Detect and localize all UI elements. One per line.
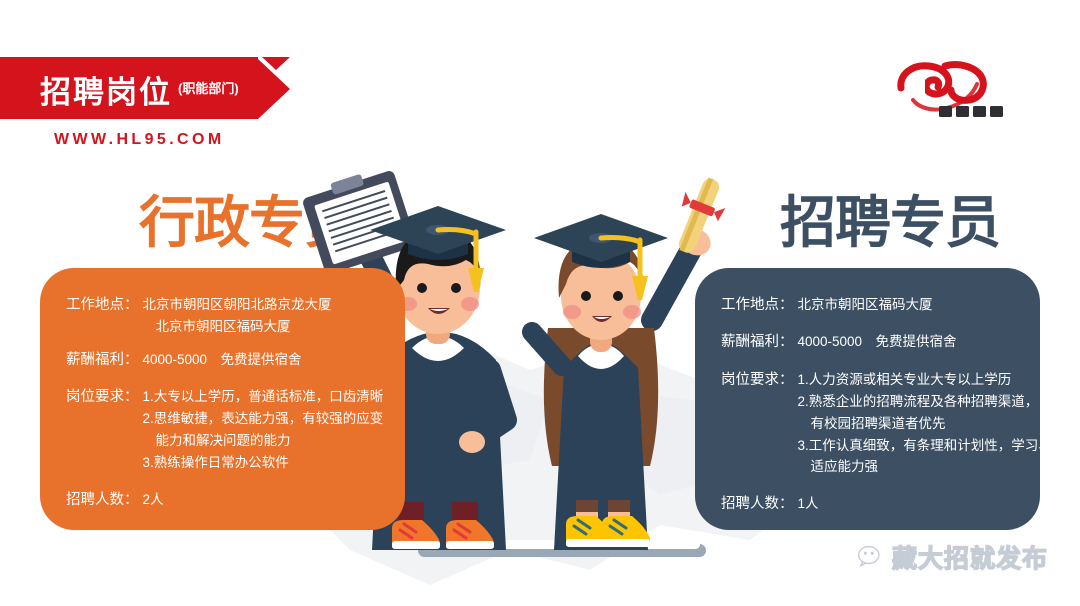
row-line: 北京市朝阳区福码大厦 — [798, 294, 1019, 316]
row-label: 招聘人数： — [721, 493, 798, 515]
logo-mark-95 — [901, 65, 984, 110]
wechat-icon — [857, 544, 884, 571]
row-label: 工作地点： — [721, 294, 798, 316]
recruitment-poster: 招聘岗位 (职能部门) WWW.HL95.COM 行政专员 招聘专员 — [0, 0, 1080, 606]
panel-row: 岗位要求： 1.人力资源或相关专业大专以上学历 2.熟悉企业的招聘流程及各种招聘… — [721, 369, 1018, 478]
row-line: 能力和解决问题的能力 — [143, 430, 384, 452]
panel-row: 招聘人数： 1人 — [721, 493, 1018, 515]
job-panel-right: 工作地点： 北京市朝阳区福码大厦 薪酬福利： 4000-5000 免费提供宿舍 … — [695, 268, 1040, 530]
row-label: 岗位要求： — [66, 386, 143, 473]
company-logo — [893, 58, 1028, 120]
website-url[interactable]: WWW.HL95.COM — [54, 131, 225, 149]
row-body: 1.人力资源或相关专业大专以上学历 2.熟悉企业的招聘流程及各种招聘渠道， 有校… — [798, 369, 1052, 478]
row-line: 1人 — [798, 493, 1019, 515]
panel-row: 工作地点： 北京市朝阳区福码大厦 — [721, 294, 1018, 316]
row-label: 薪酬福利： — [721, 331, 798, 353]
row-line: 2.思维敏捷，表达能力强，有较强的应变 — [143, 408, 384, 430]
row-line: 3.熟练操作日常办公软件 — [143, 452, 384, 474]
panel-row: 工作地点： 北京市朝阳区朝阳北路京龙大厦 北京市朝阳区福码大厦 — [66, 294, 383, 338]
row-line: 2人 — [143, 489, 384, 511]
row-line: 有校园招聘渠道者优先 — [798, 413, 1052, 435]
row-line: 1.大专以上学历，普通话标准，口齿清晰 — [143, 386, 384, 408]
job-panel-left: 工作地点： 北京市朝阳区朝阳北路京龙大厦 北京市朝阳区福码大厦 薪酬福利： 40… — [40, 268, 405, 530]
row-line: 1.人力资源或相关专业大专以上学历 — [798, 369, 1052, 391]
row-body: 1人 — [798, 493, 1019, 515]
row-line: 北京市朝阳区福码大厦 — [143, 316, 384, 338]
row-label: 工作地点： — [66, 294, 143, 338]
panel-row: 岗位要求： 1.大专以上学历，普通话标准，口齿清晰 2.思维敏捷，表达能力强，有… — [66, 386, 383, 473]
row-body: 1.大专以上学历，普通话标准，口齿清晰 2.思维敏捷，表达能力强，有较强的应变 … — [143, 386, 384, 473]
row-label: 招聘人数： — [66, 489, 143, 511]
watermark-text: 藏大招就发布 — [892, 539, 1048, 575]
row-line: 3.工作认真细致，有条理和计划性，学习、 — [798, 435, 1052, 457]
row-body: 北京市朝阳区福码大厦 — [798, 294, 1019, 316]
panel-row: 薪酬福利： 4000-5000 免费提供宿舍 — [66, 349, 383, 371]
row-line: 2.熟悉企业的招聘流程及各种招聘渠道， — [798, 391, 1052, 413]
panel-row: 招聘人数： 2人 — [66, 489, 383, 511]
row-body: 4000-5000 免费提供宿舍 — [798, 331, 1019, 353]
row-line: 北京市朝阳区朝阳北路京龙大厦 — [143, 294, 384, 316]
row-body: 北京市朝阳区朝阳北路京龙大厦 北京市朝阳区福码大厦 — [143, 294, 384, 338]
row-line: 适应能力强 — [798, 456, 1052, 478]
logo-wordmark — [939, 106, 1003, 117]
row-label: 岗位要求： — [721, 369, 798, 478]
row-line: 4000-5000 免费提供宿舍 — [143, 349, 384, 371]
row-body: 2人 — [143, 489, 384, 511]
job-title-right: 招聘专员 — [780, 196, 1000, 252]
panel-row: 薪酬福利： 4000-5000 免费提供宿舍 — [721, 331, 1018, 353]
header-banner-shape — [0, 59, 290, 119]
row-label: 薪酬福利： — [66, 349, 143, 371]
row-line: 4000-5000 免费提供宿舍 — [798, 331, 1019, 353]
wechat-watermark: 藏大招就发布 — [857, 539, 1048, 575]
row-body: 4000-5000 免费提供宿舍 — [143, 349, 384, 371]
